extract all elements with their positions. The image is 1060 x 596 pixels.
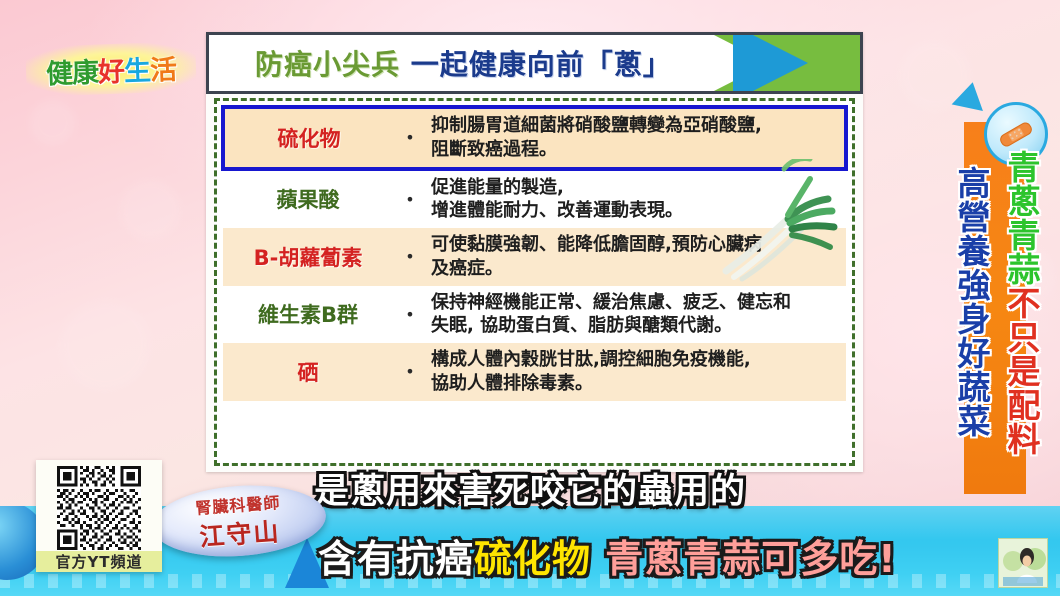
banner-pointer-arrow	[952, 79, 989, 111]
info-board: 防癌小尖兵 一起健康向前「蔥」 硫化物 • 抑制腸胃道細菌將硝酸鹽轉變為亞硝酸鹽…	[206, 32, 863, 472]
nutrient-description: 構成人體內穀胱甘肽,調控細胞免疫機能, 協助人體排除毒素。	[427, 343, 846, 401]
desc-line: 構成人體內穀胱甘肽,調控細胞免疫機能,	[431, 348, 842, 372]
banner-right-text: 青蔥青蒜不只是配料	[992, 150, 1038, 456]
desc-line: 增進體能耐力、改善運動表現。	[431, 199, 842, 223]
nutrient-table: 硫化物 • 抑制腸胃道細菌將硝酸鹽轉變為亞硝酸鹽, 阻斷致癌過程。 蘋果酸 • …	[221, 105, 848, 401]
header-title-part1: 防癌小尖兵	[255, 48, 400, 81]
bottom-headline: 含有抗癌硫化物 青蔥青蒜可多吃!	[318, 528, 897, 583]
header-title-part3: 「蔥」	[585, 48, 672, 81]
bullet-icon: •	[393, 343, 427, 401]
nutrient-name: B-胡蘿蔔素	[223, 228, 393, 286]
desc-line: 促進能量的製造,	[431, 176, 842, 200]
desc-line: 阻斷致癌過程。	[431, 138, 840, 162]
show-logo-part-2: 好	[98, 56, 125, 88]
table-row[interactable]: 維生素B群 • 保持神經機能正常、緩治焦慮、疲乏、健忘和 失眠, 協助蛋白質、脂…	[223, 286, 846, 344]
bullet-icon: •	[393, 169, 427, 229]
bokeh-decoration	[30, 100, 75, 145]
table-row[interactable]: 硒 • 構成人體內穀胱甘肽,調控細胞免疫機能, 協助人體排除毒素。	[223, 343, 846, 401]
headline-yellow: 硫化物	[474, 537, 591, 581]
nutrient-name: 硒	[223, 343, 393, 401]
table-row[interactable]: B-胡蘿蔔素 • 可使黏膜強韌、能降低膽固醇,預防心臟病 及癌症。	[223, 228, 846, 286]
nutrient-name: 硫化物	[223, 107, 393, 169]
headline-pink: 青蔥青蒜可多吃!	[605, 537, 896, 581]
desc-line: 及癌症。	[431, 257, 842, 281]
thumbnail-person-icon	[999, 539, 1047, 587]
table-row[interactable]: 硫化物 • 抑制腸胃道細菌將硝酸鹽轉變為亞硝酸鹽, 阻斷致癌過程。	[223, 107, 846, 169]
nutrient-name: 維生素B群	[223, 286, 393, 344]
table-row[interactable]: 蘋果酸 • 促進能量的製造, 增進體能耐力、改善運動表現。	[223, 169, 846, 229]
banner-right-red: 不只是配料	[1002, 286, 1041, 456]
nutrient-description: 促進能量的製造, 增進體能耐力、改善運動表現。	[427, 169, 846, 229]
corner-thumbnail[interactable]	[998, 538, 1048, 588]
video-frame: 健康好生活 防癌小尖兵 一起健康向前「蔥」 硫化物 • 抑制腸胃道細菌將硝酸鹽轉…	[0, 0, 1060, 596]
bullet-icon: •	[393, 228, 427, 286]
qr-code-icon	[56, 466, 142, 550]
banner-left-text: 高營養強身好蔬菜	[942, 166, 988, 438]
nutrient-table-frame: 硫化物 • 抑制腸胃道細菌將硝酸鹽轉變為亞硝酸鹽, 阻斷致癌過程。 蘋果酸 • …	[214, 98, 855, 466]
headline-white: 含有抗癌	[318, 537, 474, 581]
qr-code-label: 官方YT頻道	[36, 551, 162, 572]
show-logo-part-4: 活	[150, 54, 177, 86]
nutrient-description: 抑制腸胃道細菌將硝酸鹽轉變為亞硝酸鹽, 阻斷致癌過程。	[427, 107, 846, 169]
bokeh-decoration	[120, 180, 180, 240]
desc-line: 可使黏膜強韌、能降低膽固醇,預防心臟病	[431, 233, 842, 257]
bullet-icon: •	[393, 107, 427, 169]
show-logo-part-1: 健康	[46, 57, 99, 90]
right-vertical-banner: 高營養強身好蔬菜 青蔥青蒜不只是配料	[940, 104, 1052, 524]
nutrient-name: 蘋果酸	[223, 169, 393, 229]
show-logo-part-3: 生	[124, 55, 151, 87]
banner-right-green: 青蔥青蒜	[1002, 150, 1041, 286]
desc-line: 保持神經機能正常、緩治焦慮、疲乏、健忘和	[431, 291, 842, 315]
bokeh-decoration	[60, 300, 150, 390]
show-logo: 健康好生活	[25, 41, 197, 97]
nutrient-description: 保持神經機能正常、緩治焦慮、疲乏、健忘和 失眠, 協助蛋白質、脂肪與醣類代謝。	[427, 286, 846, 344]
qr-code-card[interactable]: 官方YT頻道	[36, 460, 162, 572]
desc-line: 失眠, 協助蛋白質、脂肪與醣類代謝。	[431, 314, 842, 338]
bullet-icon: •	[393, 286, 427, 344]
desc-line: 協助人體排除毒素。	[431, 372, 842, 396]
desc-line: 抑制腸胃道細菌將硝酸鹽轉變為亞硝酸鹽,	[431, 114, 840, 138]
header-title-part2: 一起健康向前	[411, 48, 585, 81]
board-header: 防癌小尖兵 一起健康向前「蔥」	[206, 32, 863, 94]
doctor-name: 江守山	[198, 512, 281, 554]
header-blue-chevron	[733, 35, 808, 91]
board-header-title: 防癌小尖兵 一起健康向前「蔥」	[255, 43, 672, 83]
nutrient-description: 可使黏膜強韌、能降低膽固醇,預防心臟病 及癌症。	[427, 228, 846, 286]
